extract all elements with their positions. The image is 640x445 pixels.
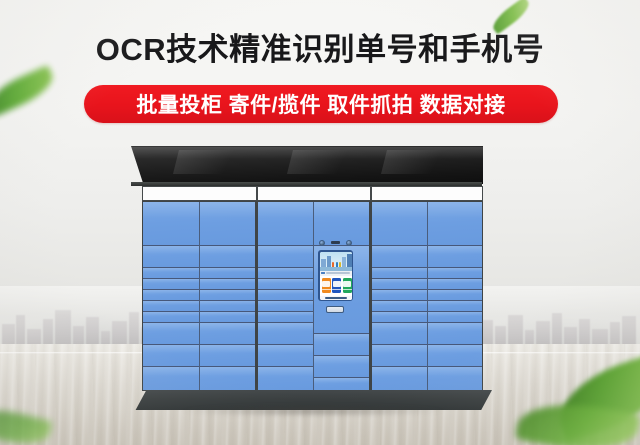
locker-door[interactable] [372,202,427,246]
locker-door[interactable] [258,301,313,312]
camera-icon [319,240,325,246]
locker-door[interactable] [200,290,256,301]
locker-door[interactable] [372,345,427,367]
locker-door[interactable] [143,290,199,301]
locker-door[interactable] [258,246,313,268]
locker-door[interactable] [372,268,427,279]
tile-label [332,289,341,291]
locker-door[interactable] [143,345,199,367]
locker-door[interactable] [428,367,483,390]
self-service-kiosk[interactable] [315,239,355,322]
service-tile[interactable] [343,278,352,293]
locker-column [372,202,427,390]
screen-action-tiles [320,276,352,296]
locker-door[interactable] [258,290,313,301]
locker-door[interactable] [258,345,313,367]
locker-door[interactable] [143,323,199,345]
locker-door[interactable] [258,312,313,323]
locker-door[interactable] [143,312,199,323]
locker-door[interactable] [428,246,483,268]
locker-column [143,202,199,390]
locker-door[interactable] [428,290,483,301]
tile-label [343,289,352,291]
promo-banner-image: OCR技术精准识别单号和手机号 批量投柜 寄件/揽件 取件抓拍 数据对接 [0,0,640,445]
parcel-drop-tray[interactable] [326,306,344,313]
locker-door[interactable] [258,268,313,279]
locker-door[interactable] [143,246,199,268]
locker-door[interactable] [372,301,427,312]
feature-banner: 批量投柜 寄件/揽件 取件抓拍 数据对接 [84,85,558,123]
box-icon [322,281,330,287]
footer-bar [325,297,347,299]
deposit-tile[interactable] [322,278,331,293]
locker-door[interactable] [428,279,483,290]
locker-door[interactable] [314,334,369,356]
camera-icon [346,240,352,246]
locker-door[interactable] [372,279,427,290]
locker-door[interactable] [200,279,256,290]
page-title: OCR技术精准识别单号和手机号 [0,24,640,69]
kiosk-sensor-bar [319,239,352,246]
parcel-icon [333,281,341,287]
locker-door[interactable] [200,301,256,312]
locker-door[interactable] [372,290,427,301]
screen-hero-illustration [320,252,352,271]
locker-door[interactable] [143,301,199,312]
locker-door[interactable] [143,279,199,290]
canopy-glint [173,150,243,174]
locker-door[interactable] [258,323,313,345]
locker-column [199,202,256,390]
locker-column [258,202,313,390]
locker-door[interactable] [428,345,483,367]
locker-column [427,202,483,390]
locker-door[interactable] [428,268,483,279]
tile-label [322,289,331,291]
locker-door[interactable] [200,246,256,268]
locker-door[interactable] [314,378,369,390]
feature-banner-label: 批量投柜 寄件/揽件 取件抓拍 数据对接 [136,89,505,119]
locker-door[interactable] [428,202,483,246]
pickup-tile[interactable] [332,278,341,293]
locker-door[interactable] [372,312,427,323]
contact-shadow [122,404,504,418]
locker-door[interactable] [143,202,199,246]
locker-header-panel [142,186,483,201]
locker-door[interactable] [200,268,256,279]
locker-door[interactable] [200,312,256,323]
locker-door[interactable] [200,345,256,367]
locker-door[interactable] [200,323,256,345]
screen-footer [320,296,352,300]
locker-door[interactable] [428,323,483,345]
locker-bay-3 [370,201,483,391]
locker-door[interactable] [372,367,427,390]
kiosk-touchscreen[interactable] [320,252,352,300]
locker-door[interactable] [372,246,427,268]
locker-door[interactable] [428,312,483,323]
locker-door[interactable] [143,367,199,390]
locker-door[interactable] [372,323,427,345]
locker-door[interactable] [200,202,256,246]
locker-door[interactable] [258,279,313,290]
locker-door[interactable] [428,301,483,312]
service-icon [343,281,351,287]
locker-door[interactable] [258,202,313,246]
canopy-glint [381,150,451,174]
locker-bay-1 [142,201,256,391]
locker-door[interactable] [258,367,313,390]
card-slot-icon[interactable] [331,241,340,245]
canopy-glint [287,150,357,174]
locker-door[interactable] [314,356,369,378]
locker-door[interactable] [143,268,199,279]
smart-parcel-locker [140,146,485,411]
locker-door[interactable] [200,367,256,390]
locker-body [142,201,483,391]
kiosk-screen-bezel [318,250,353,301]
